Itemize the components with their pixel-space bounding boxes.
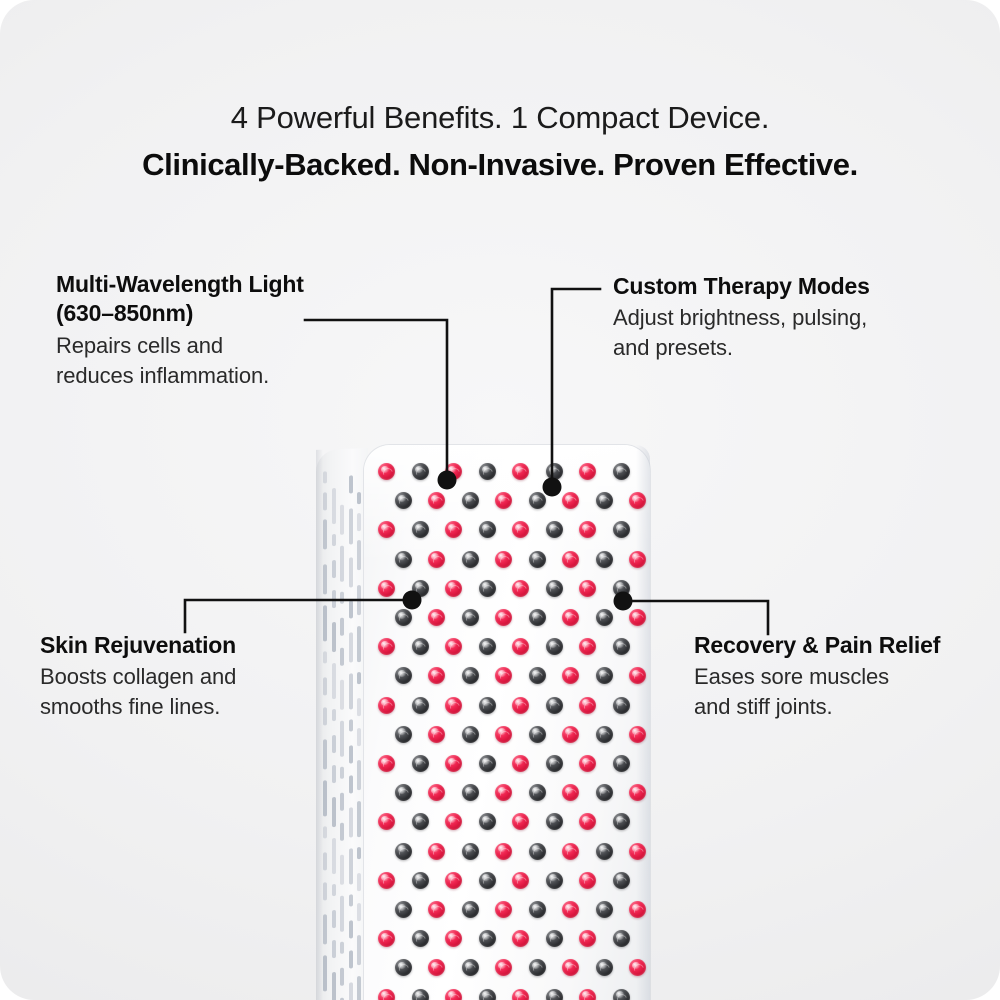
led-bulb <box>412 697 429 714</box>
led-bulb <box>596 901 613 918</box>
led-bulb <box>613 930 630 947</box>
vent-dash <box>349 894 353 906</box>
vent-dash <box>349 475 353 493</box>
led-bulb <box>445 989 462 1000</box>
led-bulb <box>378 930 395 947</box>
led-bulb <box>529 784 546 801</box>
led-bulb <box>462 551 479 568</box>
led-bulb <box>629 726 646 743</box>
led-bulb <box>445 755 462 772</box>
led-bulb <box>412 813 429 830</box>
vent-dash <box>323 492 327 510</box>
led-bulb <box>512 813 529 830</box>
led-bulb <box>395 609 412 626</box>
led-bulb <box>428 901 445 918</box>
led-bulb <box>479 463 496 480</box>
vent-column <box>349 470 353 1000</box>
led-bulb <box>613 813 630 830</box>
led-bulb <box>495 959 512 976</box>
led-bulb <box>378 697 395 714</box>
led-bulb <box>596 784 613 801</box>
vent-dash <box>349 600 353 618</box>
led-bulb <box>495 901 512 918</box>
led-bulb <box>629 492 646 509</box>
led-bulb <box>462 609 479 626</box>
callout-body-line-1: Boosts collagen and <box>40 664 236 689</box>
led-bulb <box>596 609 613 626</box>
led-bulb <box>512 755 529 772</box>
led-bulb <box>412 989 429 1000</box>
led-bulb <box>479 872 496 889</box>
vent-dash <box>340 968 344 986</box>
led-bulb <box>629 843 646 860</box>
led-bulb <box>512 463 529 480</box>
led-bulb <box>512 930 529 947</box>
vent-dash <box>357 585 361 615</box>
vent-dash <box>332 534 336 546</box>
led-bulb <box>613 989 630 1000</box>
led-bulb <box>395 551 412 568</box>
led-bulb <box>495 551 512 568</box>
led-bulb <box>378 463 395 480</box>
led-bulb <box>378 813 395 830</box>
led-bulb <box>412 463 429 480</box>
led-bulb <box>562 667 579 684</box>
vent-column <box>332 471 336 1000</box>
vent-dash <box>349 775 353 793</box>
led-bulb <box>512 521 529 538</box>
led-bulb <box>529 959 546 976</box>
led-bulb <box>378 638 395 655</box>
led-bulb <box>495 492 512 509</box>
callout-title-line-2: (630–850nm) <box>56 300 193 326</box>
led-bulb <box>495 667 512 684</box>
led-bulb <box>562 784 579 801</box>
led-bulb <box>613 521 630 538</box>
vent-dash <box>340 505 344 535</box>
vent-dash <box>332 735 336 753</box>
led-bulb <box>613 697 630 714</box>
vent-dash <box>349 920 353 938</box>
led-bulb <box>579 872 596 889</box>
callout-body-recovery-pain: Eases sore muscles and stiff joints. <box>694 662 1000 722</box>
led-bulb <box>546 930 563 947</box>
callout-body-skin-rejuvenation: Boosts collagen and smooths fine lines. <box>40 662 370 722</box>
vent-dash <box>349 848 353 884</box>
vent-dash <box>332 590 336 608</box>
led-bulb <box>412 638 429 655</box>
led-bulb <box>613 755 630 772</box>
vent-dash <box>357 873 361 891</box>
led-bulb <box>445 521 462 538</box>
led-bulb <box>395 959 412 976</box>
callout-title-multi-wavelength: Multi-Wavelength Light (630–850nm) <box>56 270 416 329</box>
led-bulb <box>629 609 646 626</box>
vent-dash <box>340 721 344 757</box>
vent-dash <box>332 797 336 827</box>
led-bulb <box>546 638 563 655</box>
led-bulb <box>395 667 412 684</box>
vent-dash <box>340 823 344 841</box>
led-bulb <box>613 872 630 889</box>
led-bulb <box>378 521 395 538</box>
led-bulb <box>445 463 462 480</box>
led-bulb <box>546 755 563 772</box>
led-bulb <box>428 784 445 801</box>
led-bulb <box>479 521 496 538</box>
product-device <box>0 0 1000 1000</box>
vent-dash <box>340 855 344 885</box>
led-bulb <box>562 726 579 743</box>
vent-dash <box>357 903 361 921</box>
callout-body-line-2: reduces inflammation. <box>56 363 269 388</box>
led-bulb <box>445 638 462 655</box>
led-bulb <box>512 697 529 714</box>
callout-body-line-2: and stiff joints. <box>694 694 833 719</box>
vent-column <box>357 470 361 1000</box>
led-bulb <box>546 697 563 714</box>
led-bulb <box>479 930 496 947</box>
led-bulb <box>596 726 613 743</box>
led-bulb <box>462 784 479 801</box>
led-bulb <box>562 492 579 509</box>
led-bulb <box>512 580 529 597</box>
vent-dash <box>357 513 361 531</box>
led-bulb <box>546 989 563 1000</box>
led-bulb <box>462 726 479 743</box>
vent-dash <box>357 976 361 1000</box>
vent-dash <box>357 492 361 504</box>
led-bulb <box>378 755 395 772</box>
callout-custom-therapy-modes: Custom Therapy Modes Adjust brightness, … <box>613 272 973 363</box>
vent-dash <box>332 838 336 874</box>
led-bulb <box>445 872 462 889</box>
led-bulb <box>596 551 613 568</box>
led-bulb <box>529 609 546 626</box>
callout-body-custom-modes: Adjust brightness, pulsing, and presets. <box>613 303 973 363</box>
led-bulb <box>395 492 412 509</box>
led-bulb <box>512 872 529 889</box>
vent-dash <box>323 914 327 944</box>
led-bulb <box>579 580 596 597</box>
led-bulb <box>529 551 546 568</box>
vent-dash <box>323 471 327 483</box>
led-bulb <box>428 726 445 743</box>
led-bulb <box>479 813 496 830</box>
led-bulb <box>479 755 496 772</box>
led-bulb <box>596 492 613 509</box>
led-bulb <box>546 463 563 480</box>
led-bulb <box>512 989 529 1000</box>
led-bulb <box>562 959 579 976</box>
callout-body-line-1: Repairs cells and <box>56 333 223 358</box>
vent-dash <box>357 801 361 837</box>
led-bulb <box>412 521 429 538</box>
vent-dash <box>349 557 353 587</box>
callout-multi-wavelength-light: Multi-Wavelength Light (630–850nm) Repai… <box>56 270 416 391</box>
led-bulb <box>479 638 496 655</box>
led-bulb <box>529 843 546 860</box>
led-bulb <box>629 667 646 684</box>
vent-dash <box>323 955 327 991</box>
vent-dash <box>349 982 353 1000</box>
callout-body-multi-wavelength: Repairs cells and reduces inflammation. <box>56 331 416 391</box>
led-array <box>364 445 650 1000</box>
callout-title-skin-rejuvenation: Skin Rejuvenation <box>40 631 370 660</box>
led-bulb <box>579 463 596 480</box>
led-bulb <box>479 697 496 714</box>
led-bulb <box>412 930 429 947</box>
led-bulb <box>529 726 546 743</box>
led-bulb <box>579 813 596 830</box>
led-bulb <box>462 843 479 860</box>
vent-dash <box>349 745 353 763</box>
led-bulb <box>596 959 613 976</box>
vent-dash <box>357 847 361 859</box>
device-vent-strip <box>323 470 363 1000</box>
led-bulb <box>629 551 646 568</box>
vent-dash <box>332 910 336 928</box>
led-bulb <box>412 755 429 772</box>
led-bulb <box>529 901 546 918</box>
callout-body-line-1: Eases sore muscles <box>694 664 889 689</box>
vent-dash <box>323 852 327 870</box>
led-bulb <box>412 872 429 889</box>
led-bulb <box>412 580 429 597</box>
led-bulb <box>562 843 579 860</box>
led-bulb <box>378 580 395 597</box>
led-bulb <box>512 638 529 655</box>
vent-dash <box>323 519 327 549</box>
led-bulb <box>579 755 596 772</box>
vent-dash <box>357 935 361 965</box>
vent-dash <box>332 940 336 958</box>
vent-dash <box>332 488 336 524</box>
vent-dash <box>332 884 336 896</box>
led-bulb <box>445 813 462 830</box>
led-bulb <box>395 784 412 801</box>
led-bulb <box>613 463 630 480</box>
led-bulb <box>579 697 596 714</box>
led-bulb <box>479 580 496 597</box>
vent-dash <box>323 826 327 838</box>
led-bulb <box>562 551 579 568</box>
led-bulb <box>579 521 596 538</box>
led-bulb <box>428 843 445 860</box>
vent-dash <box>340 793 344 811</box>
vent-dash <box>332 765 336 783</box>
callout-body-line-1: Adjust brightness, pulsing, <box>613 305 867 330</box>
led-bulb <box>495 843 512 860</box>
led-bulb <box>546 872 563 889</box>
callout-body-line-2: and presets. <box>613 335 733 360</box>
vent-dash <box>357 728 361 746</box>
callout-recovery-pain-relief: Recovery & Pain Relief Eases sore muscle… <box>694 631 1000 722</box>
led-bulb <box>529 667 546 684</box>
led-bulb <box>428 492 445 509</box>
led-bulb <box>529 492 546 509</box>
vent-dash <box>340 767 344 779</box>
product-benefits-card: 4 Powerful Benefits. 1 Compact Device. C… <box>0 0 1000 1000</box>
led-bulb <box>546 521 563 538</box>
led-bulb <box>546 580 563 597</box>
vent-dash <box>357 540 361 570</box>
led-bulb <box>546 813 563 830</box>
callout-title-custom-modes: Custom Therapy Modes <box>613 272 973 301</box>
vent-dash <box>340 896 344 932</box>
led-bulb <box>428 609 445 626</box>
led-bulb <box>445 697 462 714</box>
vent-column <box>323 471 327 1000</box>
vent-column <box>340 471 344 1000</box>
vent-dash <box>323 564 327 594</box>
callout-skin-rejuvenation: Skin Rejuvenation Boosts collagen and sm… <box>40 631 370 722</box>
led-bulb <box>428 959 445 976</box>
led-bulb <box>495 609 512 626</box>
led-bulb <box>445 580 462 597</box>
vent-dash <box>357 760 361 790</box>
callout-body-line-2: smooths fine lines. <box>40 694 220 719</box>
vent-dash <box>349 950 353 968</box>
vent-dash <box>349 807 353 837</box>
led-bulb <box>462 492 479 509</box>
led-bulb <box>579 989 596 1000</box>
led-bulb <box>629 959 646 976</box>
vent-dash <box>332 560 336 578</box>
led-bulb <box>462 667 479 684</box>
led-bulb <box>495 726 512 743</box>
led-bulb <box>462 901 479 918</box>
vent-dash <box>340 592 344 604</box>
vent-dash <box>323 739 327 769</box>
led-bulb <box>579 930 596 947</box>
led-bulb <box>395 843 412 860</box>
led-bulb <box>428 667 445 684</box>
led-bulb <box>428 551 445 568</box>
led-bulb <box>395 726 412 743</box>
led-bulb <box>629 901 646 918</box>
vent-dash <box>332 972 336 1000</box>
led-bulb <box>479 989 496 1000</box>
vent-dash <box>340 942 344 954</box>
led-bulb <box>395 901 412 918</box>
led-bulb <box>378 989 395 1000</box>
vent-dash <box>340 546 344 582</box>
led-bulb <box>613 638 630 655</box>
callout-title-line-1: Multi-Wavelength Light <box>56 271 304 297</box>
led-bulb <box>596 843 613 860</box>
led-bulb <box>445 930 462 947</box>
led-bulb <box>629 784 646 801</box>
vent-dash <box>323 780 327 816</box>
led-bulb <box>378 872 395 889</box>
vent-dash <box>349 508 353 544</box>
led-bulb <box>596 667 613 684</box>
vent-dash <box>323 882 327 900</box>
led-bulb <box>613 580 630 597</box>
led-bulb <box>562 609 579 626</box>
led-bulb <box>462 959 479 976</box>
led-bulb <box>579 638 596 655</box>
led-bulb <box>562 901 579 918</box>
led-bulb <box>495 784 512 801</box>
callout-title-recovery-pain: Recovery & Pain Relief <box>694 631 1000 660</box>
